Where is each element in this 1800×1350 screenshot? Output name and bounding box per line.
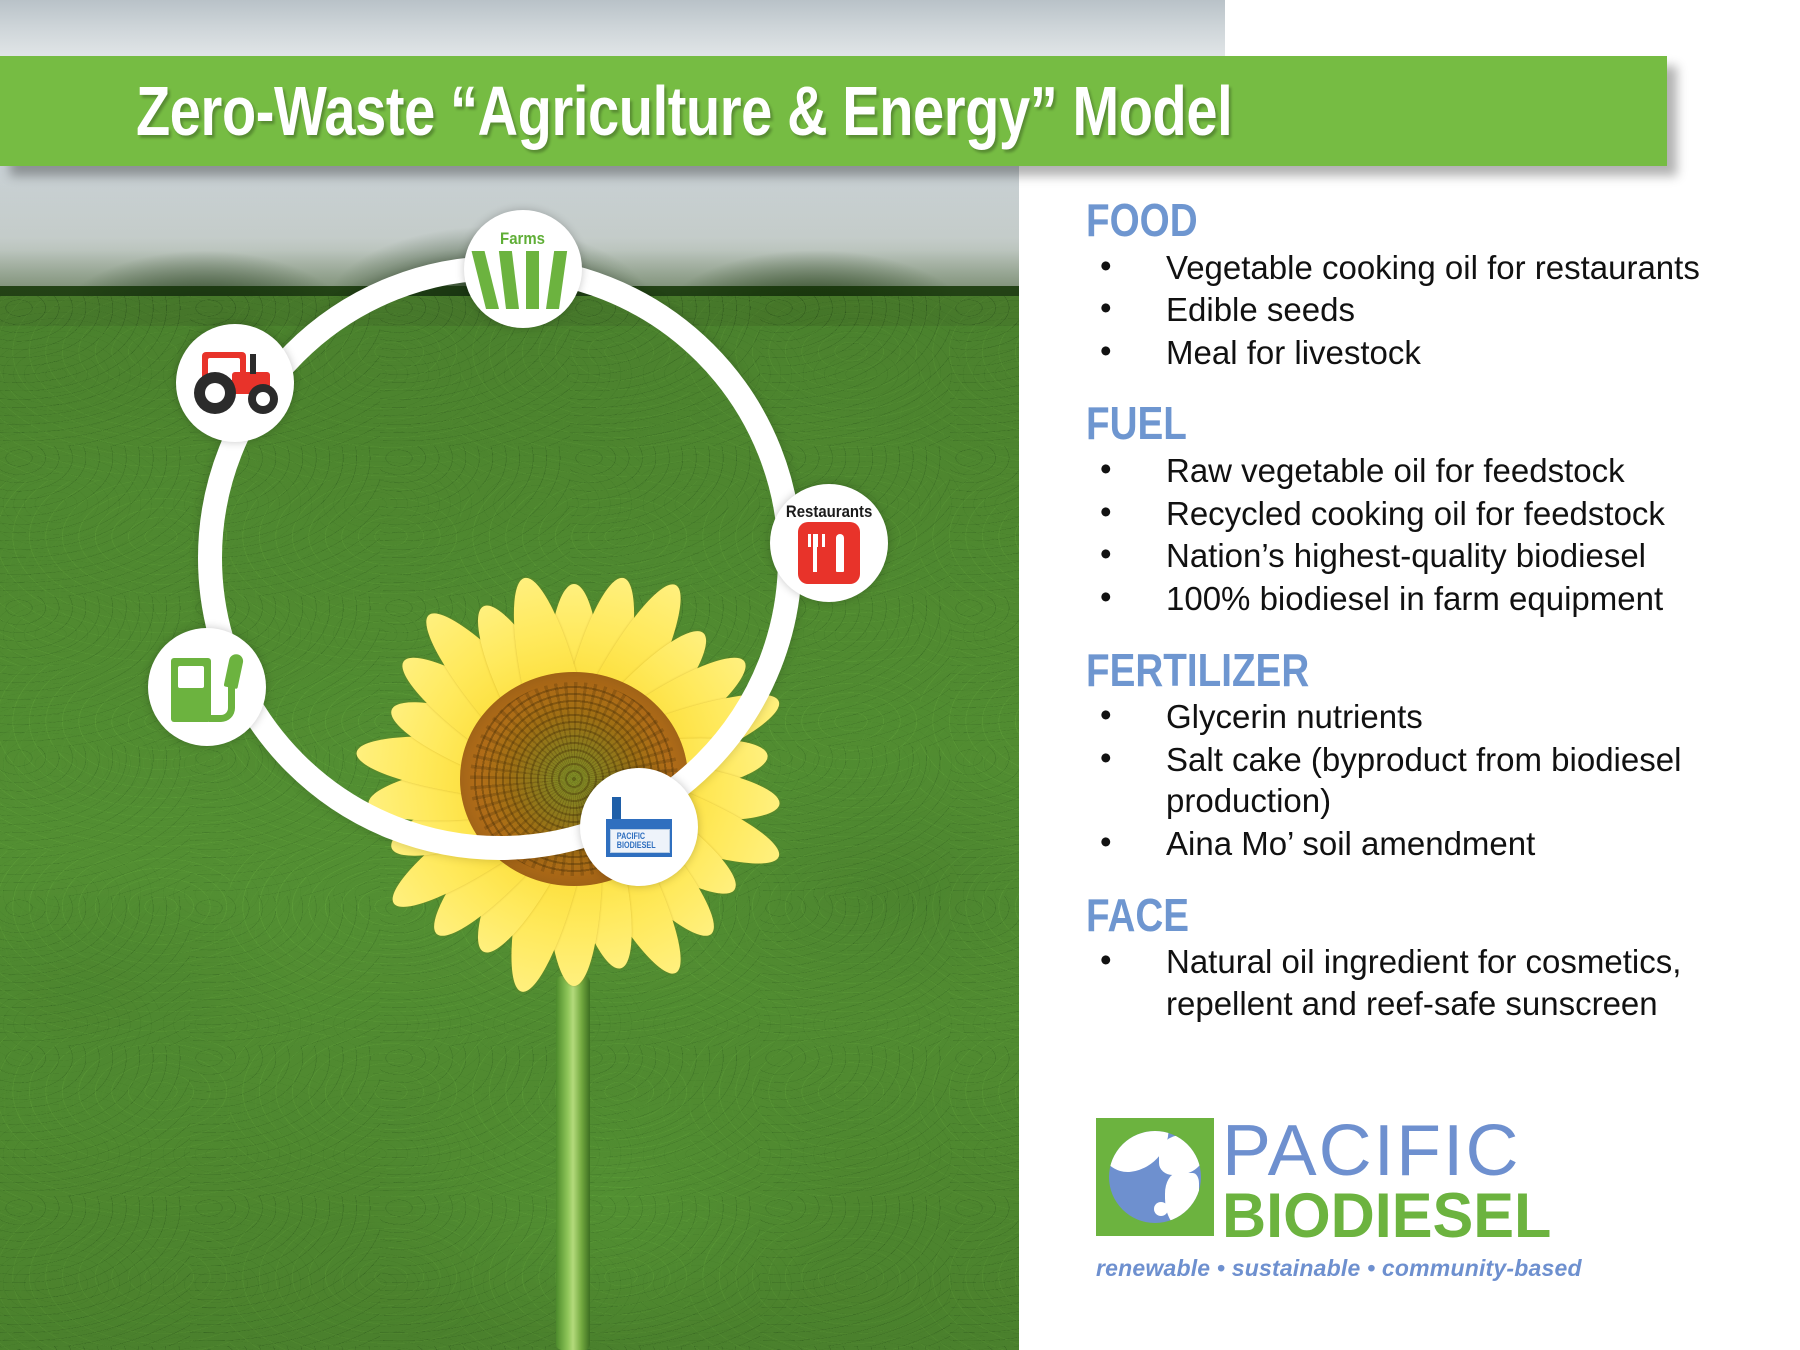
section-heading: FOOD [1086, 196, 1666, 245]
plant-sign-text: PACIFIC BIODIESEL [617, 832, 663, 850]
pacific-biodiesel-logo: PACIFIC BIODIESEL renewable • sustainabl… [1096, 1118, 1566, 1282]
list-item: Salt cake (byproduct from biodiesel prod… [1086, 739, 1776, 822]
section-face: FACENatural oil ingredient for cosmetics… [1086, 891, 1776, 1025]
list-item: Natural oil ingredient for cosmetics, re… [1086, 941, 1776, 1024]
globe-icon [1109, 1131, 1201, 1223]
list-item: Vegetable cooking oil for restaurants [1086, 247, 1776, 289]
benefits-list: FOODVegetable cooking oil for restaurant… [1086, 196, 1776, 1051]
list-item: Aina Mo’ soil amendment [1086, 823, 1776, 865]
section-fuel: FUELRaw vegetable oil for feedstockRecyc… [1086, 399, 1776, 619]
section-food: FOODVegetable cooking oil for restaurant… [1086, 196, 1776, 373]
section-fertilizer: FERTILIZERGlycerin nutrientsSalt cake (b… [1086, 646, 1776, 865]
cycle-node-restaurants-label: Restaurants [786, 503, 872, 520]
logo-name-biodiesel: BIODIESEL [1222, 1186, 1551, 1246]
cycle-node-fuel-pump[interactable] [148, 628, 266, 746]
cycle-node-farms[interactable]: Farms [464, 210, 582, 328]
logo-tagline: renewable • sustainable • community-base… [1096, 1255, 1566, 1282]
title-banner: Zero-Waste “Agriculture & Energy” Model [0, 56, 1667, 166]
cycle-node-tractor[interactable] [176, 324, 294, 442]
list-item: Raw vegetable oil for feedstock [1086, 450, 1776, 492]
list-item: Recycled cooking oil for feedstock [1086, 493, 1776, 535]
bullet-list: Natural oil ingredient for cosmetics, re… [1086, 941, 1776, 1024]
section-heading: FERTILIZER [1086, 646, 1666, 695]
bullet-list: Glycerin nutrientsSalt cake (byproduct f… [1086, 696, 1776, 864]
crop-rows-icon [486, 249, 560, 309]
section-heading: FUEL [1086, 399, 1666, 448]
zero-waste-cycle-diagram: Farms Restaurants PACIFIC BIODIESEL [170, 228, 830, 888]
sky-sliver [0, 0, 1225, 58]
cycle-ring [198, 256, 802, 860]
cycle-node-restaurants[interactable]: Restaurants [770, 484, 888, 602]
biodiesel-plant-icon: PACIFIC BIODIESEL [606, 797, 672, 857]
list-item: Glycerin nutrients [1086, 696, 1776, 738]
tractor-icon [192, 352, 278, 414]
cycle-node-biodiesel-plant[interactable]: PACIFIC BIODIESEL [580, 768, 698, 886]
fuel-pump-icon [171, 652, 243, 722]
list-item: Edible seeds [1086, 289, 1776, 331]
section-heading: FACE [1086, 891, 1666, 940]
logo-globe-mark [1096, 1118, 1214, 1236]
fork-knife-icon [798, 522, 860, 584]
sunflower-stalk [556, 976, 590, 1350]
page-title: Zero-Waste “Agriculture & Energy” Model [136, 71, 1232, 151]
cycle-node-farms-label: Farms [501, 230, 546, 247]
list-item: Meal for livestock [1086, 332, 1776, 374]
bullet-list: Raw vegetable oil for feedstockRecycled … [1086, 450, 1776, 619]
slide-root: Zero-Waste “Agriculture & Energy” Model … [0, 0, 1800, 1350]
logo-name-pacific: PACIFIC [1222, 1118, 1568, 1184]
bullet-list: Vegetable cooking oil for restaurantsEdi… [1086, 247, 1776, 374]
list-item: Nation’s highest-quality biodiesel [1086, 535, 1776, 577]
list-item: 100% biodiesel in farm equipment [1086, 578, 1776, 620]
